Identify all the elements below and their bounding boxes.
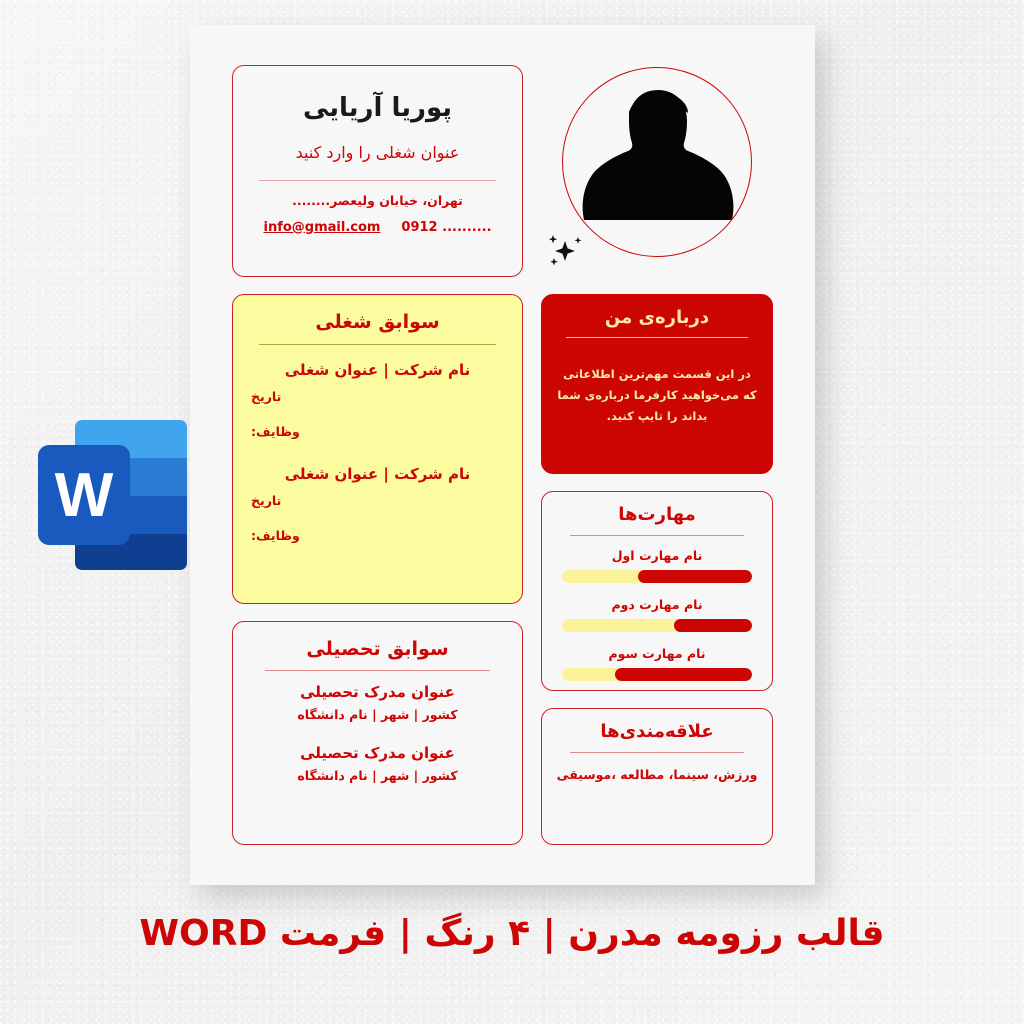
photo-block: [541, 65, 773, 277]
work-experience-title: سوابق شغلی: [251, 311, 504, 334]
skill-bar-track[interactable]: [562, 668, 752, 681]
interests-title: علاقه‌مندی‌ها: [556, 721, 758, 743]
skill-bar-fill: [615, 668, 752, 681]
skill-bar-track[interactable]: [562, 570, 752, 583]
right-column: درباره‌ی من در این قسمت مهم‌ترین اطلاعات…: [541, 65, 773, 845]
about-me-card: درباره‌ی من در این قسمت مهم‌ترین اطلاعات…: [541, 294, 773, 474]
job-duties: وظایف:: [251, 424, 504, 439]
avatar-circle: [562, 67, 752, 257]
sparkle-icon: [545, 231, 591, 271]
contact-row: 0912 .......... info@gmail.com: [253, 220, 502, 235]
skill-name: نام مهارت اول: [556, 548, 758, 563]
address-text: تهران، خیابان ولیعصر........: [253, 193, 502, 208]
about-me-text: در این قسمت مهم‌ترین اطلاعاتی که می‌خواه…: [556, 364, 758, 428]
skills-card: مهارت‌ها نام مهارت اول نام مهارت دوم: [541, 491, 773, 691]
skill-item: نام مهارت دوم: [556, 597, 758, 632]
skill-bar-fill: [674, 619, 752, 632]
divider: [259, 180, 496, 181]
divider: [566, 337, 748, 338]
job-heading: نام شرکت | عنوان شغلی: [251, 465, 504, 483]
job-date: تاریخ: [251, 389, 504, 404]
resume-sheet: درباره‌ی من در این قسمت مهم‌ترین اطلاعات…: [190, 25, 815, 885]
skill-bar-fill: [638, 570, 752, 583]
degree-title: عنوان مدرک تحصیلی: [251, 683, 504, 701]
email-link[interactable]: info@gmail.com: [263, 220, 380, 235]
skill-name: نام مهارت سوم: [556, 646, 758, 661]
microsoft-word-icon[interactable]: W: [30, 415, 195, 575]
job-duties: وظایف:: [251, 528, 504, 543]
header-card: پوریا آریایی عنوان شغلی را وارد کنید تهر…: [232, 65, 523, 277]
job-heading: نام شرکت | عنوان شغلی: [251, 361, 504, 379]
job-date: تاریخ: [251, 493, 504, 508]
education-card: سوابق تحصیلی عنوان مدرک تحصیلی کشور | شه…: [232, 621, 523, 845]
left-column: پوریا آریایی عنوان شغلی را وارد کنید تهر…: [232, 65, 523, 845]
person-silhouette-icon: [563, 68, 752, 257]
education-entry: عنوان مدرک تحصیلی کشور | شهر | نام دانشگ…: [251, 744, 504, 783]
full-name: پوریا آریایی: [253, 92, 502, 125]
word-icon-letter: W: [55, 461, 114, 530]
skill-item: نام مهارت اول: [556, 548, 758, 583]
skills-title: مهارت‌ها: [556, 504, 758, 526]
job-entry: نام شرکت | عنوان شغلی تاریخ وظایف:: [251, 361, 504, 439]
phone-text: 0912 ..........: [401, 220, 491, 235]
work-experience-card: سوابق شغلی نام شرکت | عنوان شغلی تاریخ و…: [232, 294, 523, 604]
education-title: سوابق تحصیلی: [251, 638, 504, 661]
skill-name: نام مهارت دوم: [556, 597, 758, 612]
degree-title: عنوان مدرک تحصیلی: [251, 744, 504, 762]
job-title: عنوان شغلی را وارد کنید: [253, 143, 502, 162]
job-entry: نام شرکت | عنوان شغلی تاریخ وظایف:: [251, 465, 504, 543]
about-me-title: درباره‌ی من: [556, 307, 758, 329]
divider: [259, 344, 496, 345]
caption-text: قالب رزومه مدرن | ۴ رنگ | فرمت WORD: [0, 912, 1024, 955]
interests-card: علاقه‌مندی‌ها ورزش، سینما، مطالعه ،موسیق…: [541, 708, 773, 845]
degree-place: کشور | شهر | نام دانشگاه: [251, 768, 504, 783]
divider: [570, 752, 744, 753]
education-entry: عنوان مدرک تحصیلی کشور | شهر | نام دانشگ…: [251, 683, 504, 722]
skill-bar-track[interactable]: [562, 619, 752, 632]
skill-item: نام مهارت سوم: [556, 646, 758, 681]
divider: [570, 535, 744, 536]
degree-place: کشور | شهر | نام دانشگاه: [251, 707, 504, 722]
divider: [265, 670, 490, 671]
interests-text: ورزش، سینما، مطالعه ،موسیقی: [556, 767, 758, 782]
